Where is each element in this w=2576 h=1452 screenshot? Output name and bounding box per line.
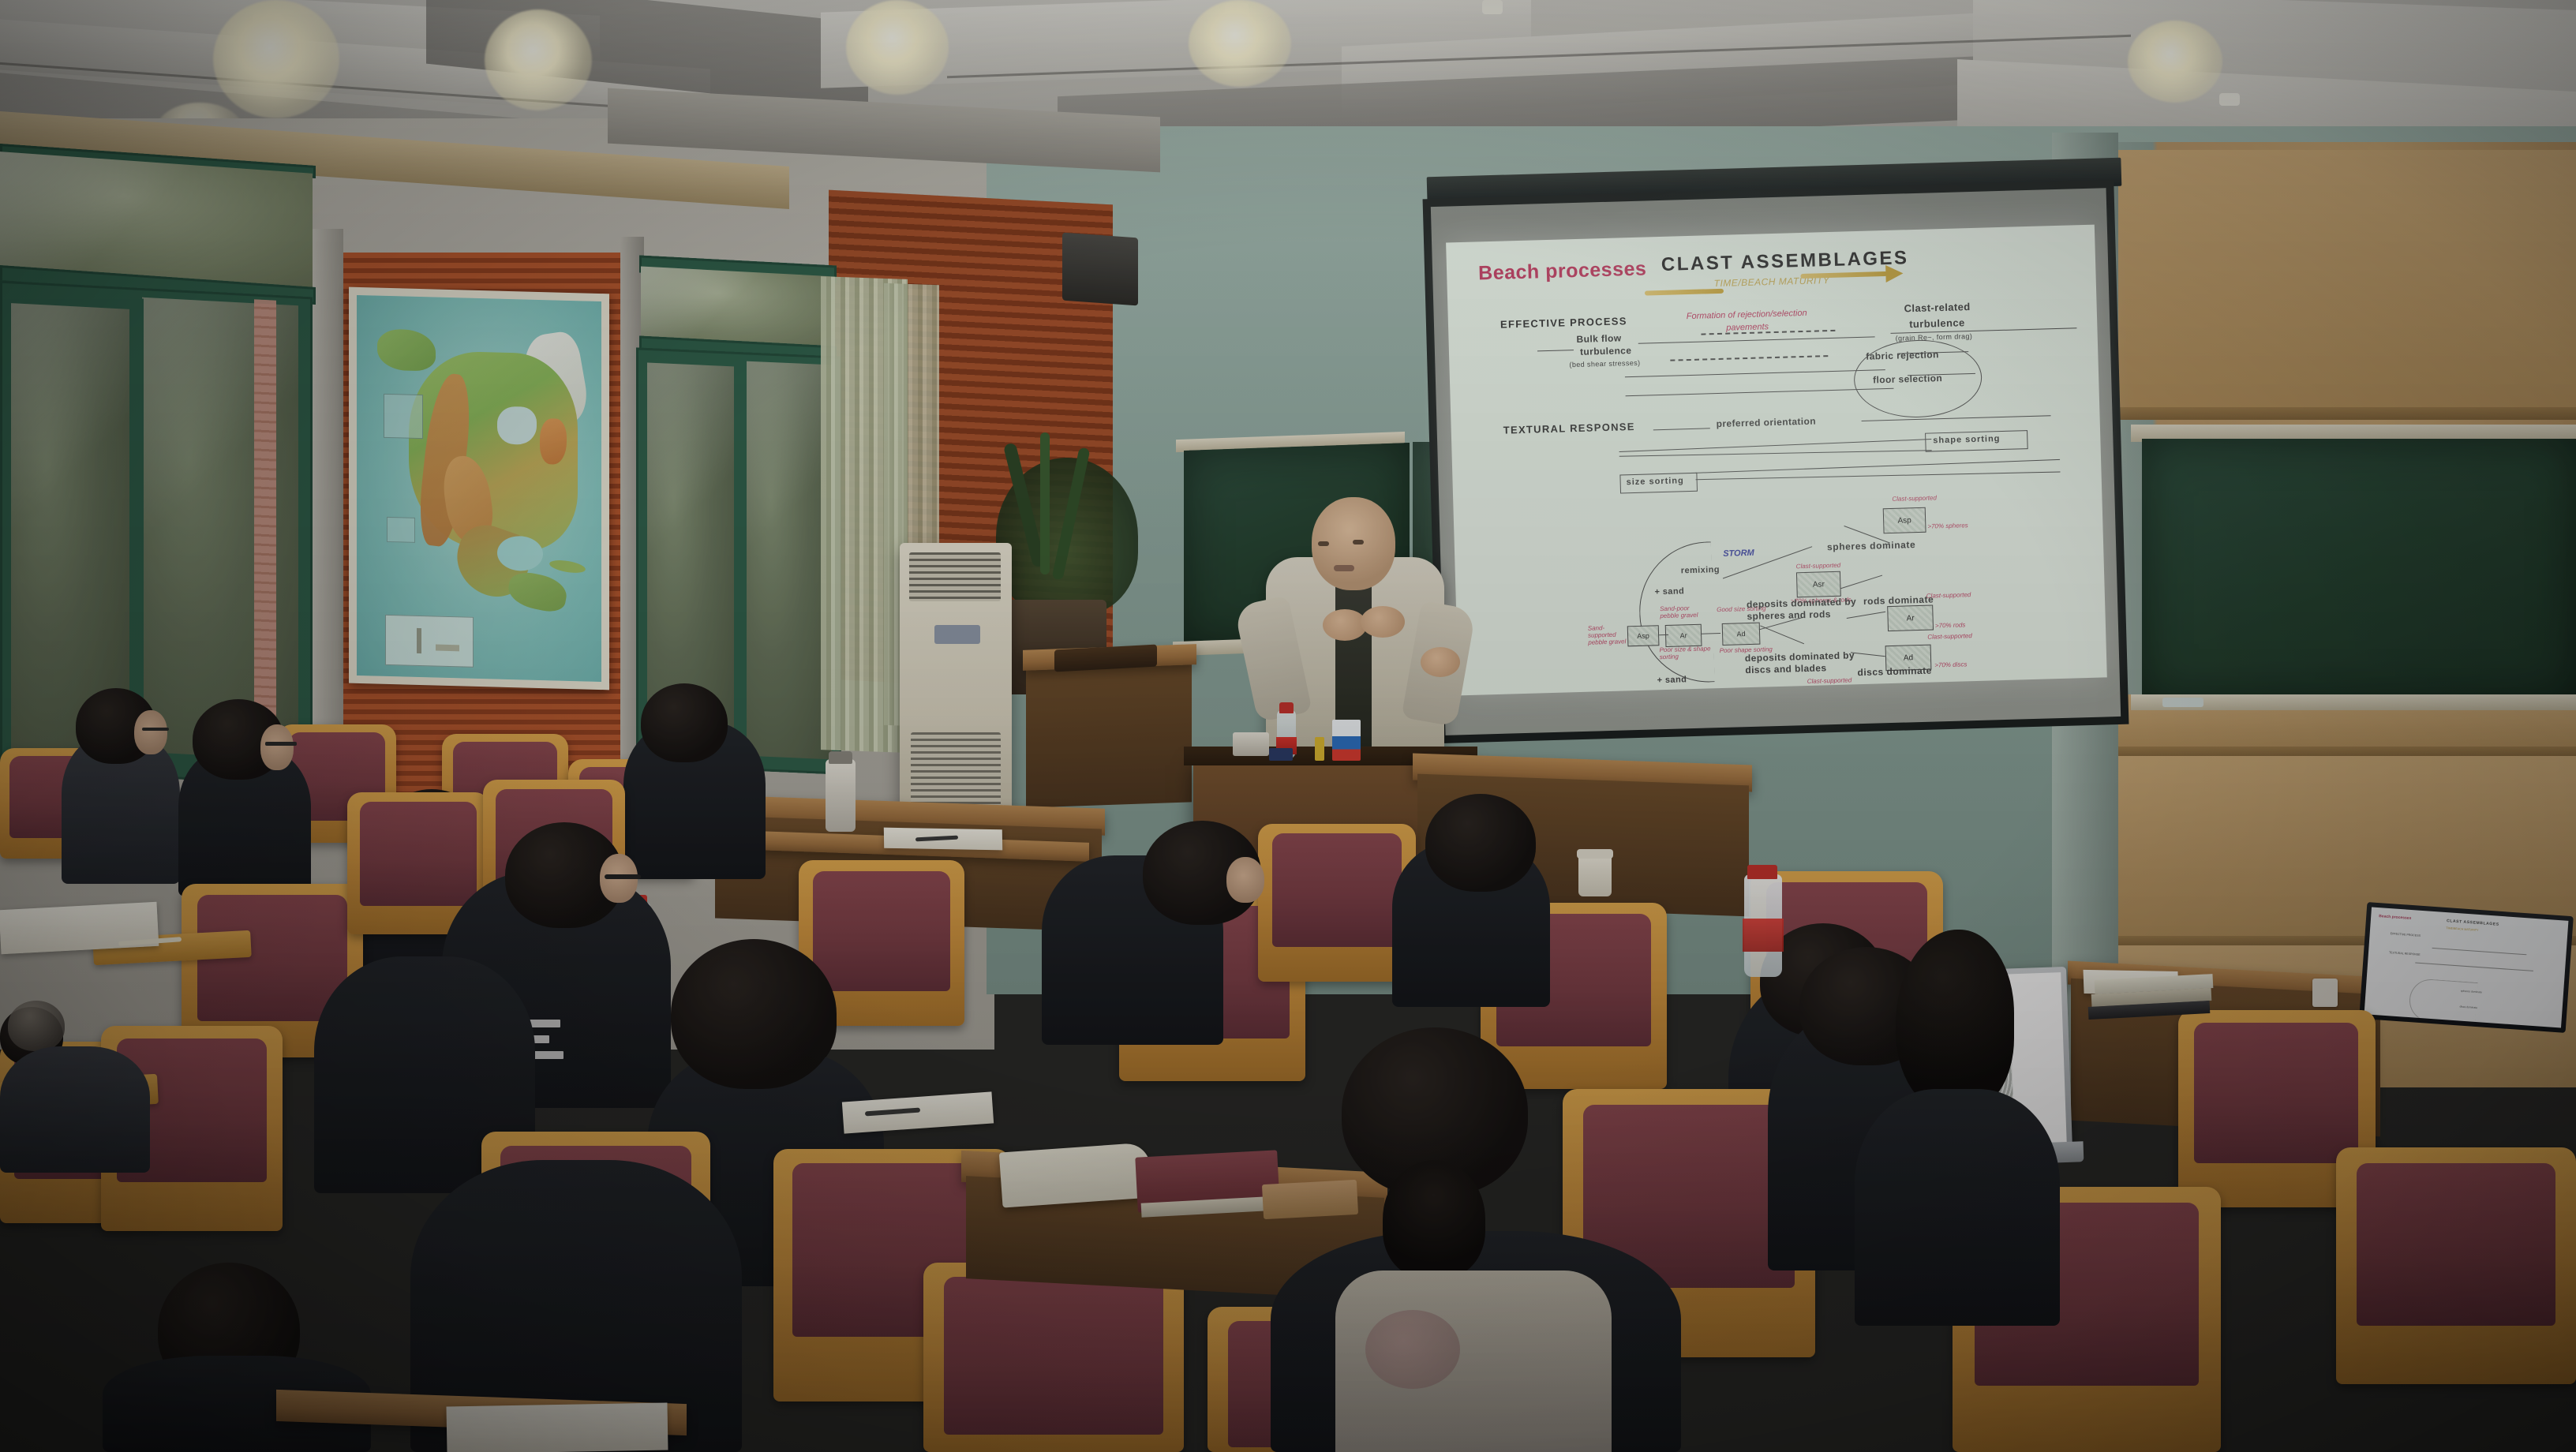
window-mullion <box>734 360 747 760</box>
eyeglasses <box>142 728 169 731</box>
seat-cushion <box>813 871 950 991</box>
laptop-right[interactable]: Beach processes CLAST ASSEMBLAGES TIME/B… <box>2359 902 2574 1033</box>
outcome-spheres-dominate: spheres dominate <box>1827 539 1916 552</box>
projection-screen[interactable]: Beach processes CLAST ASSEMBLAGES TIME/B… <box>1423 180 2129 743</box>
term-clast-related: Clast-related <box>1904 301 1970 314</box>
term-fabric-rejection: fabric rejection <box>1866 349 1939 362</box>
label-poor-size-shape-sorting: Poor size & shape sorting <box>1660 646 1715 661</box>
eyeglasses <box>605 874 641 879</box>
term-size-sorting: size sorting <box>1626 476 1683 487</box>
window-brick-reveal <box>254 299 276 742</box>
slide-dashed-rule <box>1670 355 1828 361</box>
map-scale-bar <box>436 645 459 652</box>
ac-display-panel[interactable] <box>934 625 980 644</box>
chalk-eraser <box>2162 698 2203 707</box>
clast-support-2: Clast-supported <box>1796 562 1841 571</box>
wall-map-frame[interactable] <box>349 287 609 690</box>
clast-pct-3: >70% rods <box>1935 621 1966 629</box>
laptop-slide-arc <box>2408 978 2478 1025</box>
front-table <box>1026 652 1192 807</box>
map-inset-box <box>384 394 423 439</box>
laptop-slide-row-1: EFFECTIVE PROCESS <box>2391 932 2421 937</box>
slide-rule <box>1862 415 2051 421</box>
slide-taper-rule <box>1696 472 2061 481</box>
clast-box-ar: Ar <box>1887 605 1934 632</box>
notepad[interactable] <box>0 902 159 954</box>
seat-cushion <box>2357 1163 2555 1326</box>
seat-cushion <box>944 1277 1163 1435</box>
term-preferred-orientation: preferred orientation <box>1716 416 1816 430</box>
term-clast-turbulence: turbulence <box>1909 316 1965 330</box>
label-plus-sand-bottom: + sand <box>1657 675 1687 685</box>
seat-cushion <box>360 802 477 906</box>
wall-socket[interactable] <box>2312 979 2338 1007</box>
wall-map-north-america <box>357 295 601 682</box>
air-conditioner[interactable] <box>900 543 1012 827</box>
map-hudson-bay <box>497 406 537 445</box>
attendee-body <box>0 1046 150 1173</box>
map-legend-mark <box>417 628 421 653</box>
label-remixing-top: remixing <box>1681 565 1720 575</box>
attendee-body <box>1855 1089 2060 1326</box>
attendee-head <box>1896 930 2014 1111</box>
outcome-discs-dominate: discs dominate <box>1857 665 1932 679</box>
presenter-mouth <box>1334 565 1354 571</box>
eyeglasses <box>265 742 297 746</box>
term-formation-pavements-1: Formation of rejection/selection <box>1687 309 1807 321</box>
paper-cup-lid <box>1577 849 1613 859</box>
slide-rule <box>1625 369 1885 377</box>
ceiling-light-glow <box>1189 0 1291 87</box>
cycle-arrow-line <box>1713 691 1807 695</box>
map-legend <box>385 615 474 668</box>
attendee-face <box>1226 857 1264 903</box>
bottle-label <box>1743 919 1784 952</box>
laptop-slide-axis-label: TIME/BEACH MATURITY <box>2446 926 2478 932</box>
window-mullion <box>129 298 144 760</box>
map-inset-box <box>387 517 415 543</box>
clast-support-1: Clast-supported <box>1892 494 1937 503</box>
term-turbulence: turbulence <box>1580 345 1632 357</box>
label-plus-sand-top: + sand <box>1654 586 1684 597</box>
term-shape-sorting: shape sorting <box>1933 434 2000 445</box>
paper-cup[interactable] <box>1578 854 1612 896</box>
attendee-face <box>260 724 294 770</box>
path-box-asp: Asp <box>1627 625 1660 646</box>
maturity-arrow-head <box>1885 264 1904 283</box>
bottle-cap <box>1279 702 1294 713</box>
clast-pct-4: >70% discs <box>1934 661 1967 668</box>
slide-row-label-effective-process: EFFECTIVE PROCESS <box>1500 315 1627 330</box>
label-storm-top: STORM <box>1723 548 1754 559</box>
open-book-left-page <box>999 1142 1152 1207</box>
bottle-cap <box>1747 865 1777 879</box>
maturity-arrow-shaft <box>1800 271 1887 279</box>
outcome-discs-and-blades: deposits dominated by discs and blades <box>1745 649 1856 676</box>
clast-support-4: Clast-supported <box>1927 632 1972 641</box>
maturity-arrow-tail <box>1645 289 1724 296</box>
chalkboard-right <box>2142 439 2576 701</box>
slide-title-left: Beach processes <box>1478 257 1647 285</box>
connector <box>1851 652 1885 657</box>
slide-rule <box>1653 428 1710 430</box>
label-remixing-bottom: remixing <box>1676 691 1715 695</box>
connector <box>1852 693 1889 696</box>
window-pane <box>745 361 832 760</box>
clast-box-asr: Asr <box>1796 571 1841 598</box>
plant-frond <box>1040 432 1050 574</box>
path-box-ar: Ar <box>1665 624 1702 647</box>
term-floor-selection: floor selection <box>1873 372 1942 385</box>
slide-rule <box>1638 336 1875 343</box>
label-sand-supported-pebble-gravel: Sand-supported pebble gravel <box>1588 624 1630 646</box>
wood-panel <box>2115 150 2576 410</box>
attendee-head <box>671 939 837 1089</box>
laptop-right-screen: Beach processes CLAST ASSEMBLAGES TIME/B… <box>2364 907 2569 1027</box>
ceiling-light-fixture <box>1482 0 1503 14</box>
outcome-spheres-and-rods: deposits dominated by spheres and rods <box>1747 596 1858 623</box>
ceiling-light-glow <box>213 0 339 118</box>
attendee-head-grey-hair <box>8 1001 65 1051</box>
podium-object <box>1269 748 1293 761</box>
ac-vent-top <box>909 552 1001 601</box>
clast-box-adb: Adb <box>1806 686 1851 695</box>
slide-row-label-textural-response: TEXTURAL RESPONSE <box>1503 421 1635 436</box>
seat-cushion <box>2194 1023 2358 1163</box>
path-box-ad: Ad <box>1722 623 1761 646</box>
attendee-ponytail <box>1383 1160 1485 1278</box>
floral-pattern <box>1365 1310 1460 1389</box>
ceiling-light-fixture <box>2219 93 2240 106</box>
tissue-box[interactable] <box>1332 720 1361 761</box>
seat-cushion <box>1272 833 1402 947</box>
term-bed-shear-stresses: (bed shear stresses) <box>1569 359 1640 369</box>
lecture-hall-scene: Beach processes CLAST ASSEMBLAGES TIME/B… <box>0 0 2576 1452</box>
laptop-slide-row-2: TEXTURAL RESPONSE <box>2389 951 2421 956</box>
term-bulk-flow: Bulk flow <box>1576 332 1621 345</box>
slide-rule <box>1537 350 1574 351</box>
slide-rule <box>1626 388 1894 396</box>
clast-box-asp: Asp <box>1883 507 1926 533</box>
clast-pct-1: >70% spheres <box>1927 522 1968 530</box>
label-sand-poor-pebble-gravel: Sand-poor pebble gravel <box>1660 604 1707 619</box>
presenter-hand-resting <box>1421 647 1460 677</box>
laptop-slide-title-left: Beach processes <box>2379 914 2411 921</box>
podium-papers <box>1233 732 1269 756</box>
presenter-eye-right <box>1353 540 1364 544</box>
projected-slide: Beach processes CLAST ASSEMBLAGES TIME/B… <box>1446 225 2107 696</box>
ceiling-light-glow <box>2128 21 2222 103</box>
attendee-head <box>1425 794 1536 892</box>
laptop-slide-title-center: CLAST ASSEMBLAGES <box>2447 919 2499 927</box>
ceiling-light-glow <box>846 0 949 95</box>
wood-panel-seam <box>2115 407 2576 420</box>
wood-panel <box>2115 756 2576 937</box>
presenter-eye-left <box>1318 541 1329 546</box>
laptop-slide-rule <box>2415 962 2533 971</box>
slide-taper-rule <box>1695 459 2060 473</box>
laptop-slide-rule <box>2432 948 2527 955</box>
clast-support-3: Clast-supported <box>1926 591 1971 600</box>
desk-papers <box>446 1403 668 1452</box>
book-under-stack <box>1262 1180 1358 1219</box>
attendee-face <box>134 710 167 754</box>
lecture-seat[interactable] <box>2336 1147 2576 1384</box>
marker-pen[interactable] <box>1315 737 1324 761</box>
ceiling-light-glow <box>485 9 592 110</box>
thermos-flask[interactable] <box>826 759 856 832</box>
clast-support-5: Clast-supported <box>1807 676 1852 685</box>
thermos-lid <box>829 751 852 764</box>
connector <box>1760 625 1804 644</box>
slide-taper-rule <box>1619 450 1932 457</box>
map-labrador <box>540 418 567 465</box>
wall-speaker <box>1062 233 1138 306</box>
attendee-head <box>641 683 728 762</box>
lecture-seat[interactable] <box>923 1263 1184 1452</box>
presenter-hand-right <box>1361 606 1405 638</box>
connector <box>1840 575 1882 589</box>
projection-screen-surface: Beach processes CLAST ASSEMBLAGES TIME/B… <box>1431 188 2121 735</box>
